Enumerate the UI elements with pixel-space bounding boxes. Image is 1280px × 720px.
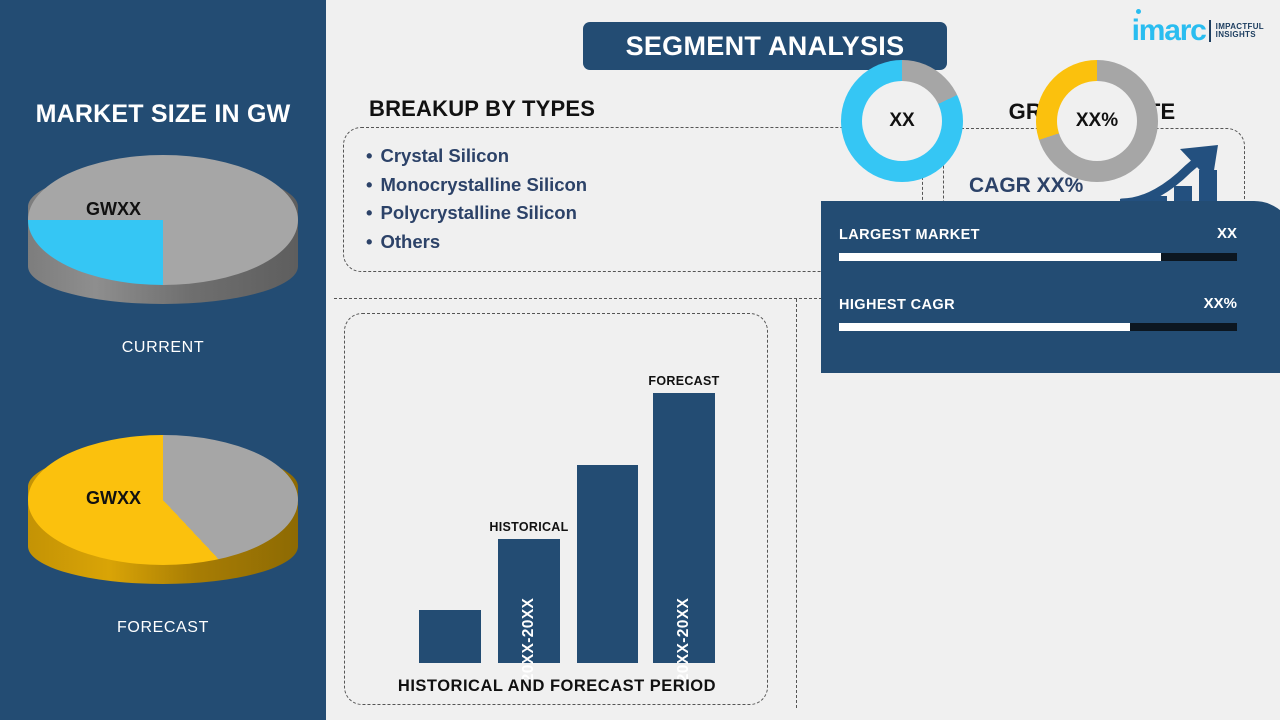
pie-top-current (28, 155, 298, 285)
historical-forecast-barchart-box: HISTORICAL 20XX-20XX FORECAST 20XX-20XX … (344, 313, 768, 705)
donut-center: XX (862, 81, 942, 161)
pie-forecast-caption: FORECAST (0, 619, 326, 637)
pie-3d-current: GWXX (28, 155, 298, 315)
stat-value: XX% (1204, 295, 1237, 312)
content-area: SEGMENT ANALYSIS imarc IMPACTFUL INSIGHT… (326, 0, 1280, 720)
bar-period-label: 20XX-20XX (520, 598, 538, 683)
sidebar-title: MARKET SIZE IN GW (0, 100, 326, 129)
breakup-by-types-title: BREAKUP BY TYPES (369, 96, 595, 122)
bar-annotation-historical: HISTORICAL (489, 520, 568, 534)
progress-fill (839, 253, 1161, 261)
vertical-divider (796, 299, 797, 708)
sidebar: MARKET SIZE IN GW GWXX CURRENT GWXX FORE… (0, 0, 326, 720)
bar-period-label: 20XX-20XX (675, 598, 693, 683)
donut-chart-count: XX (841, 60, 963, 182)
bar: FORECAST 20XX-20XX (653, 393, 715, 663)
pie-top-forecast (28, 435, 298, 565)
pie-forecast-value-label: GWXX (86, 488, 141, 509)
logo-tagline-line2: INSIGHTS (1216, 31, 1264, 39)
donut-center-label: XX% (1076, 110, 1118, 132)
donut-row: XX XX% (806, 52, 1276, 217)
logo-tagline: IMPACTFUL INSIGHTS (1216, 23, 1264, 40)
bar-annotation-forecast: FORECAST (648, 374, 719, 388)
donut-center-label: XX (889, 110, 914, 132)
progress-fill (839, 323, 1130, 331)
pie-current-value-label: GWXX (86, 199, 141, 220)
logo-dot-icon (1136, 9, 1141, 14)
donut-chart-percent: XX% (1036, 60, 1158, 182)
logo-divider (1209, 20, 1211, 42)
bar: HISTORICAL 20XX-20XX (498, 539, 560, 663)
logo-wordmark: imarc (1132, 16, 1206, 46)
pie-3d-forecast: GWXX (28, 435, 298, 595)
market-size-forecast-chart: GWXX FORECAST (0, 435, 326, 637)
market-size-current-chart: GWXX CURRENT (0, 155, 326, 357)
stat-label: LARGEST MARKET (839, 227, 980, 243)
progress-track (839, 253, 1237, 261)
stat-row-largest-market: LARGEST MARKET XX (839, 227, 1237, 261)
progress-track (839, 323, 1237, 331)
stat-row-highest-cagr: HIGHEST CAGR XX% (839, 297, 1237, 331)
donut-center: XX% (1057, 81, 1137, 161)
stats-panel: LARGEST MARKET XX HIGHEST CAGR XX% (821, 201, 1280, 373)
infographic-page: MARKET SIZE IN GW GWXX CURRENT GWXX FORE… (0, 0, 1280, 720)
pie-current-caption: CURRENT (0, 339, 326, 357)
bar (419, 610, 481, 663)
barchart-plot: HISTORICAL 20XX-20XX FORECAST 20XX-20XX … (345, 314, 769, 706)
imarc-logo: imarc IMPACTFUL INSIGHTS (1132, 14, 1264, 48)
bar (577, 465, 638, 663)
stat-label: HIGHEST CAGR (839, 297, 955, 313)
barchart-axis-label: HISTORICAL AND FORECAST PERIOD (345, 677, 769, 696)
logo-wordmark-text: imarc (1132, 14, 1206, 47)
stat-value: XX (1217, 225, 1237, 242)
